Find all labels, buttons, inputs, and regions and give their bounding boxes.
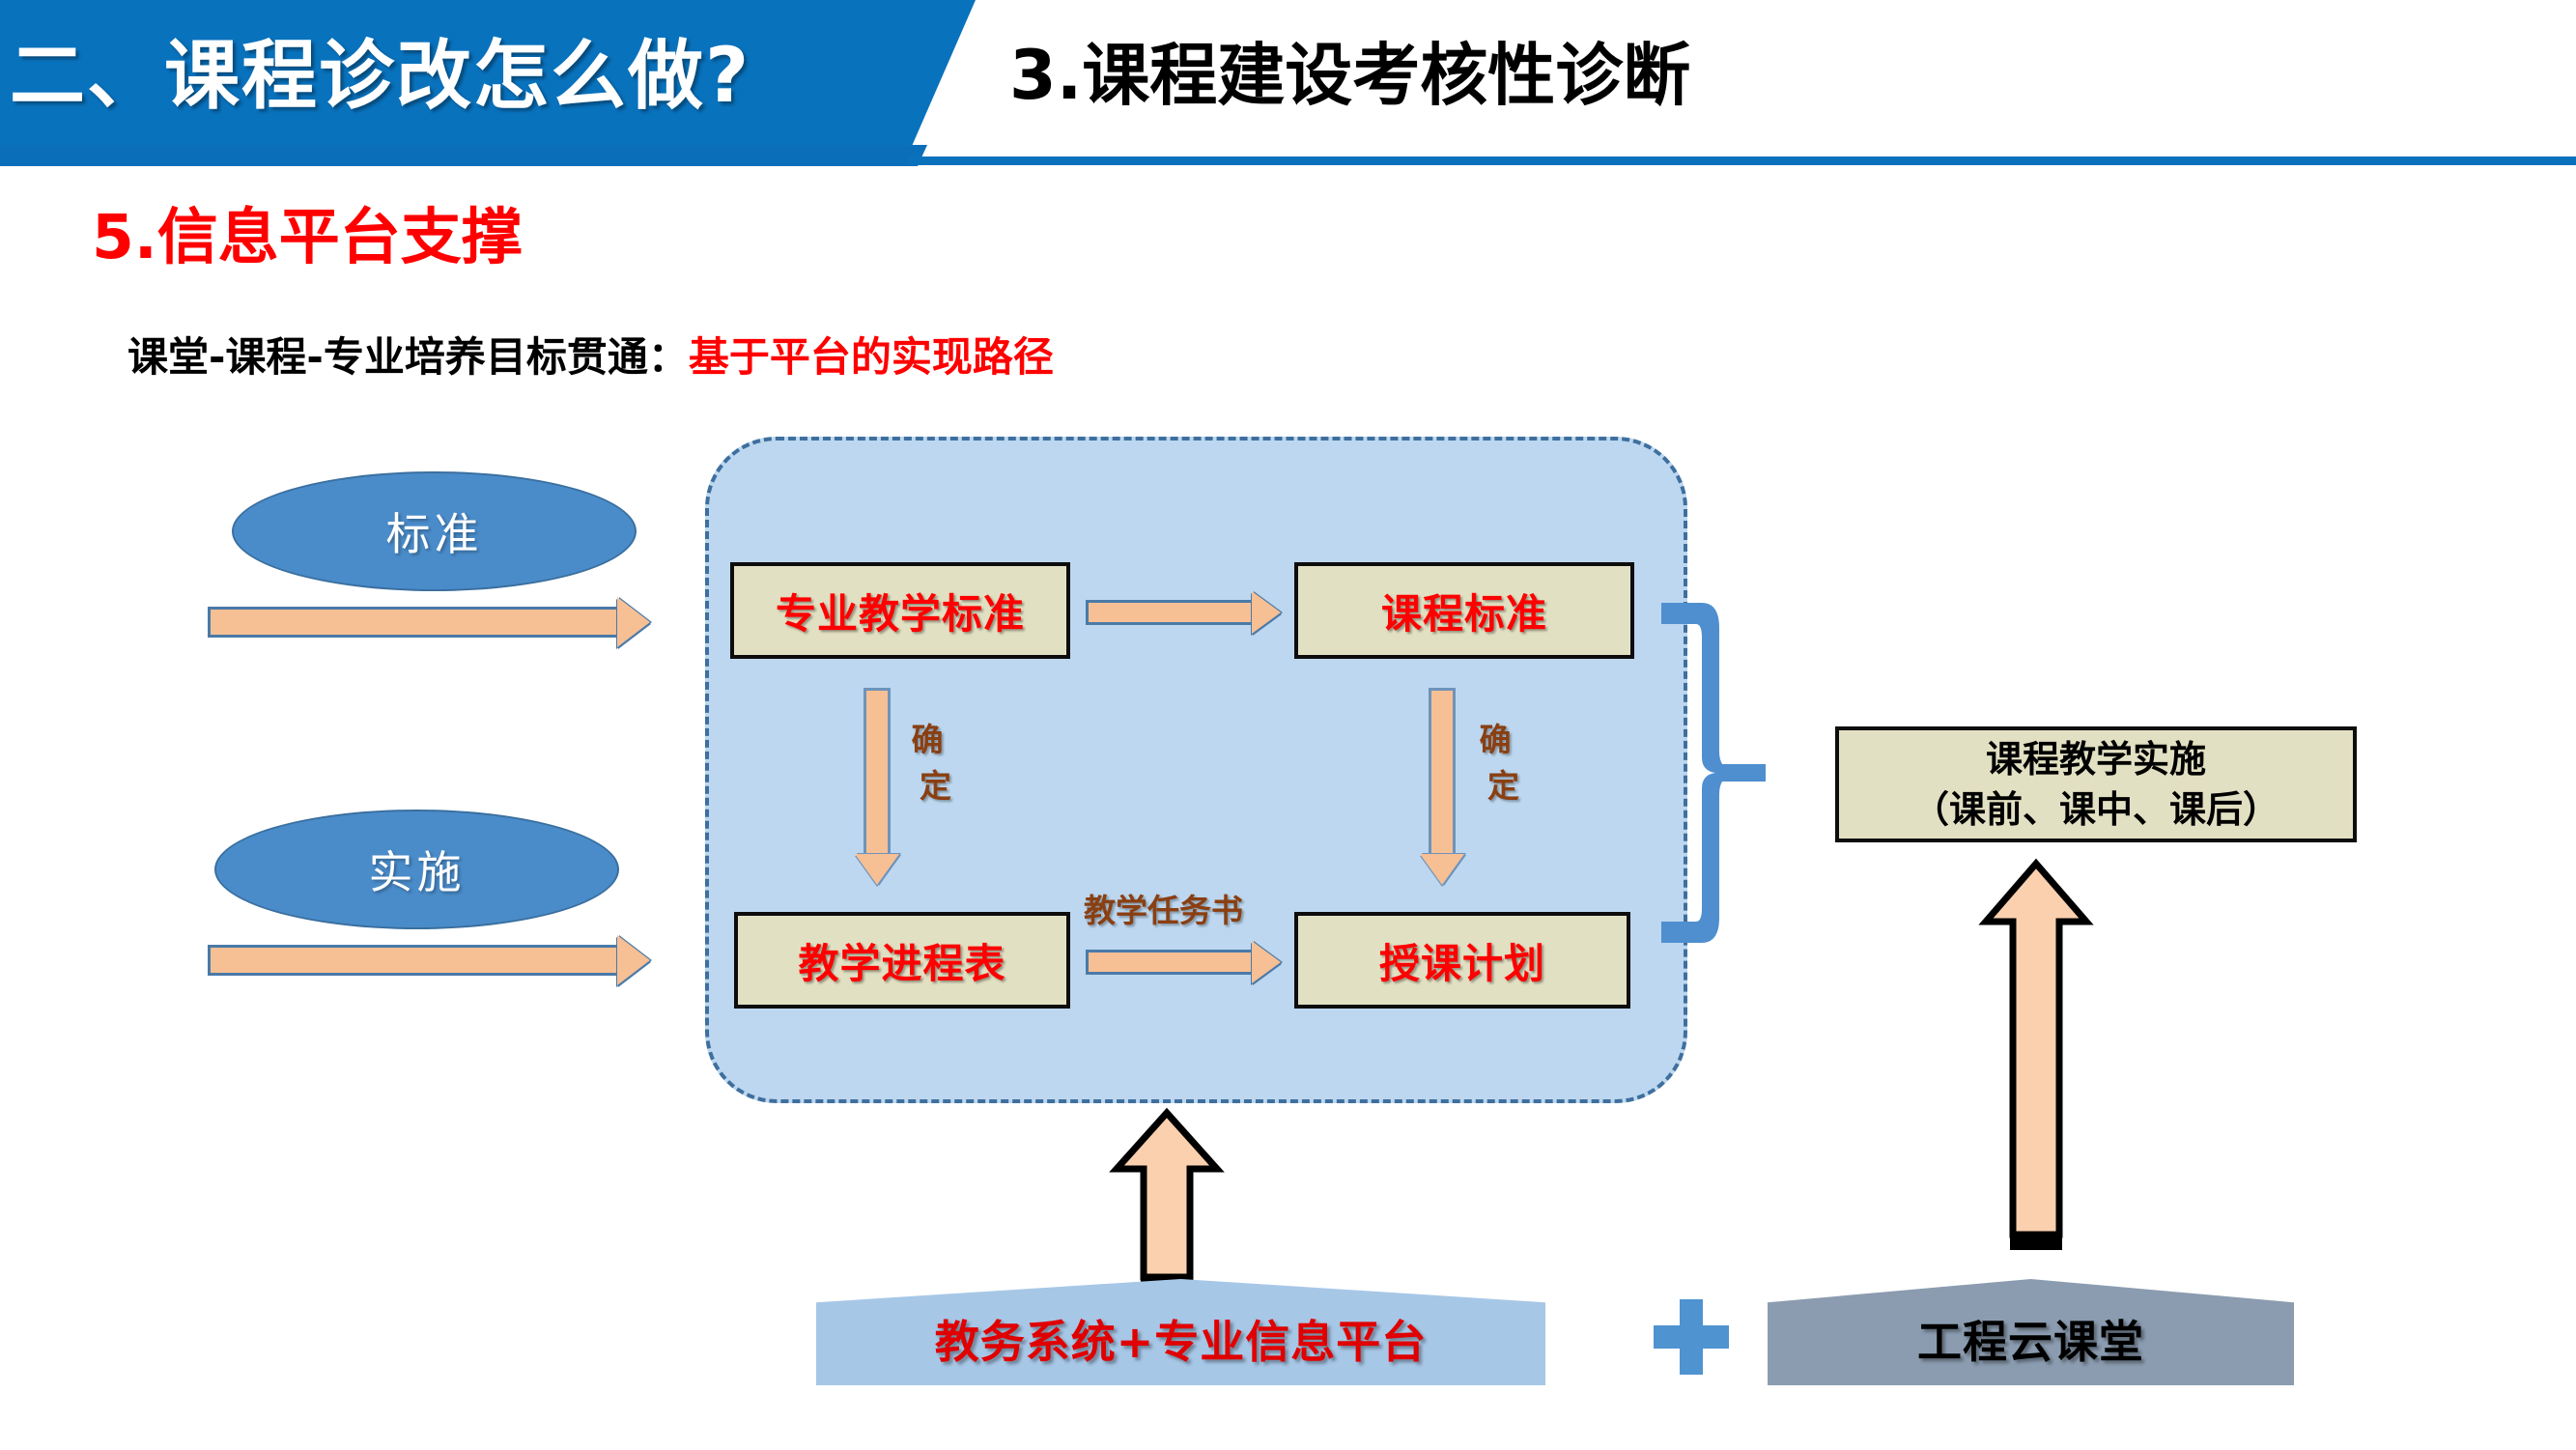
plus-vertical-bar <box>1680 1299 1703 1375</box>
arrow-shaft <box>208 607 623 638</box>
impl-line-1: 课程教学实施 <box>1986 734 2206 784</box>
arrow-shaft <box>1086 950 1258 975</box>
arrow-major-std-to-schedule <box>855 688 899 886</box>
subtitle-highlight-text: 基于平台的实现路径 <box>689 333 1054 381</box>
ellipse-implementation: 实施 <box>214 810 619 929</box>
section-title: 5.信息平台支撑 <box>92 199 523 276</box>
section-subtitle: 课堂-课程-专业培养目标贯通：基于平台的实现路径 <box>127 330 1054 384</box>
determine-char-1: 确 <box>1476 717 1514 763</box>
arrow-shaft <box>1429 688 1456 858</box>
arrow-shaft <box>208 945 623 976</box>
arrow-head <box>1420 854 1464 885</box>
determine-char-2: 定 <box>920 763 947 810</box>
box-lesson-plan: 授课计划 <box>1294 912 1630 1009</box>
determine-char-1: 确 <box>908 717 947 763</box>
band-arrow-implementation <box>208 935 652 985</box>
header-horizontal-rule <box>908 156 2576 165</box>
arrow-major-std-to-course-std <box>1086 591 1284 634</box>
box-major-teaching-standard: 专业教学标准 <box>730 562 1070 659</box>
determine-char-2: 定 <box>1487 763 1514 810</box>
slide-canvas: 二、课程诊改怎么做? 3.课程建设考核性诊断 5.信息平台支撑 课堂-课程-专业… <box>0 0 2576 1450</box>
ellipse-standard: 标准 <box>232 471 637 591</box>
arrow-shaft <box>1086 600 1258 625</box>
banner-engineering-cloud-classroom: 工程云课堂 <box>1768 1279 2294 1385</box>
label-determine-left: 确 定 <box>908 717 947 810</box>
box-teaching-schedule: 教学进程表 <box>734 912 1070 1009</box>
band-arrow-standard <box>208 597 652 647</box>
box-course-standard: 课程标准 <box>1294 562 1634 659</box>
banner-academic-platform: 教务系统+专业信息平台 <box>816 1279 1545 1385</box>
arrow-shaft <box>863 688 891 858</box>
up-arrow-platform-to-panel <box>1109 1107 1225 1300</box>
arrow-head <box>855 854 899 885</box>
impl-line-2: （课前、课中、课后） <box>1912 784 2279 835</box>
curly-brace-icon <box>1652 589 1768 956</box>
arrow-head <box>617 935 650 985</box>
arrow-head <box>1252 941 1281 983</box>
label-teaching-task-book: 教学任务书 <box>1084 885 1243 931</box>
arrow-course-std-to-lesson-plan <box>1420 688 1464 886</box>
up-arrow-cloud-to-implementation <box>1978 858 2094 1254</box>
box-course-implementation: 课程教学实施 （课前、课中、课后） <box>1835 726 2357 842</box>
header-under-band <box>0 145 927 166</box>
plus-icon <box>1654 1299 1729 1375</box>
header-right-title: 3.课程建设考核性诊断 <box>1009 25 1690 126</box>
arrow-schedule-to-lesson-plan <box>1086 941 1284 983</box>
label-determine-right: 确 定 <box>1476 717 1514 810</box>
subtitle-plain-text: 课堂-课程-专业培养目标贯通： <box>127 333 689 381</box>
arrow-head <box>1252 591 1281 634</box>
header-left-title: 二、课程诊改怎么做? <box>10 23 860 129</box>
arrow-head <box>617 597 650 647</box>
